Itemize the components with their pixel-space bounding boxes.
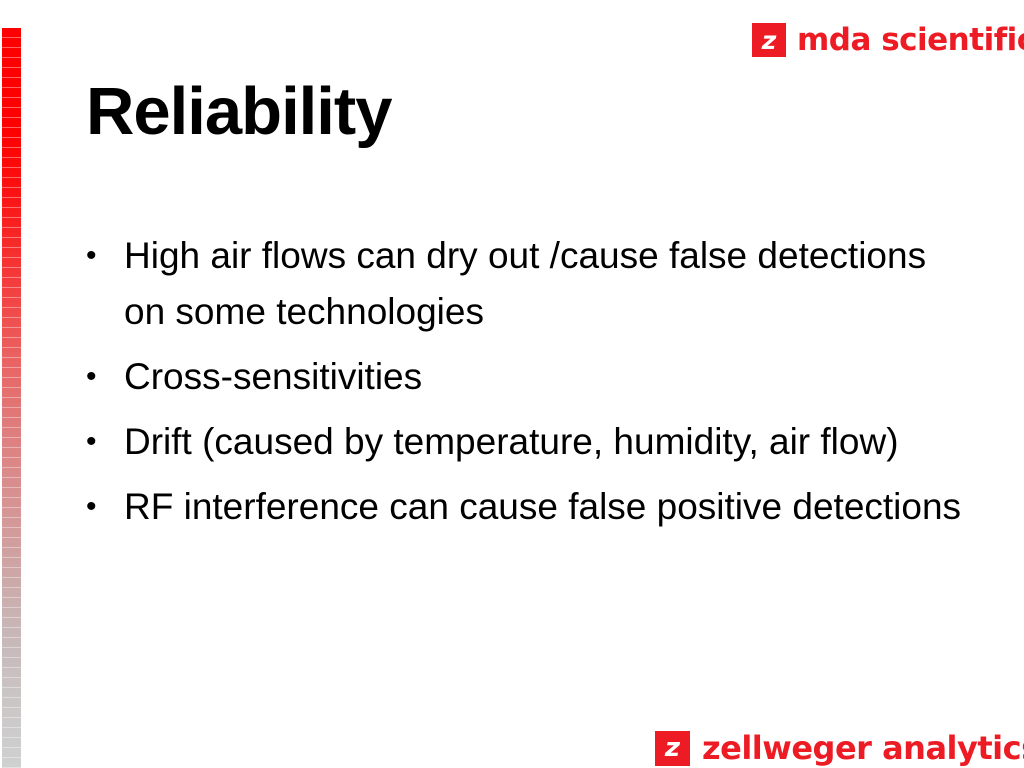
bullet-point-icon: • bbox=[86, 479, 124, 535]
accent-bar-stripes bbox=[2, 28, 21, 768]
list-item: • Cross-sensitivities bbox=[86, 349, 966, 405]
list-item-text: Drift (caused by temperature, humidity, … bbox=[124, 414, 966, 470]
list-item-text: RF interference can cause false positive… bbox=[124, 479, 966, 535]
list-item: • High air flows can dry out /cause fals… bbox=[86, 228, 966, 340]
list-item: • Drift (caused by temperature, humidity… bbox=[86, 414, 966, 470]
page-title: Reliability bbox=[86, 78, 391, 145]
logo-zellweger-analytics: z zellweger analytics bbox=[655, 729, 1024, 767]
zellweger-z-icon: z bbox=[752, 23, 786, 57]
slide-canvas: z mda scientific Reliability • High air … bbox=[0, 0, 1024, 768]
bullet-point-icon: • bbox=[86, 414, 124, 470]
logo-mda-scientific-text: mda scientific bbox=[797, 22, 1024, 58]
list-item-text: High air flows can dry out /cause false … bbox=[124, 228, 966, 340]
bullet-point-icon: • bbox=[86, 228, 124, 284]
logo-mda-scientific: z mda scientific bbox=[752, 22, 1024, 58]
zellweger-z-icon: z bbox=[655, 731, 690, 766]
gradient-accent-bar bbox=[2, 28, 21, 768]
logo-zellweger-analytics-text: zellweger analytics bbox=[702, 729, 1024, 767]
list-item-text: Cross-sensitivities bbox=[124, 349, 966, 405]
list-item: • RF interference can cause false positi… bbox=[86, 479, 966, 535]
bullet-list: • High air flows can dry out /cause fals… bbox=[86, 228, 966, 544]
bullet-point-icon: • bbox=[86, 349, 124, 405]
